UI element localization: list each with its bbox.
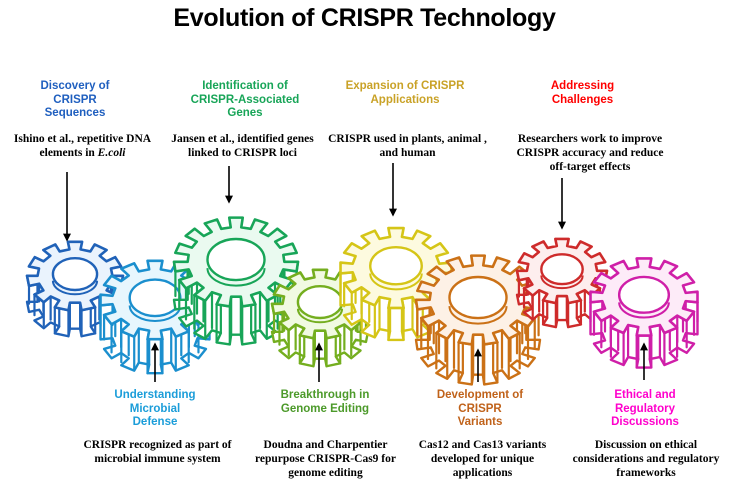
heading-line: CRISPR [405, 403, 555, 417]
heading-line: Challenges [505, 94, 660, 108]
description-identification-of-crispr-associated-genes: Jansen et al., identified geneslinked to… [155, 132, 330, 160]
description-understanding-microbial-defense: CRISPR recognized as part ofmicrobial im… [70, 438, 245, 466]
heading-line: Expansion of CRISPR [325, 80, 485, 94]
description-line: applications [400, 466, 565, 480]
heading-ethical-and-regulatory-discussions: Ethical andRegulatoryDiscussions [570, 389, 720, 430]
heading-line: Discussions [570, 416, 720, 430]
heading-line: Genome Editing [250, 403, 400, 417]
heading-understanding-microbial-defense: UnderstandingMicrobialDefense [80, 389, 230, 430]
description-line: Researchers work to improve [500, 132, 680, 146]
infographic-canvas: Evolution of CRISPR Technology Discovery… [0, 0, 729, 485]
description-line: CRISPR accuracy and reduce [500, 146, 680, 160]
description-expansion-of-crispr-applications: CRISPR used in plants, animal ,and human [320, 132, 495, 160]
heading-line: Applications [325, 94, 485, 108]
heading-line: Addressing [505, 80, 660, 94]
heading-line: Variants [405, 416, 555, 430]
description-line: developed for unique [400, 452, 565, 466]
description-discovery-of-crispr-sequences: Ishino et al., repetitive DNAelements in… [0, 132, 170, 160]
description-line: Ishino et al., repetitive DNA [0, 132, 170, 146]
heading-addressing-challenges: AddressingChallenges [505, 80, 660, 107]
heading-line: CRISPR [0, 94, 155, 108]
heading-line: Sequences [0, 107, 155, 121]
description-line: elements in E.coli [0, 146, 170, 160]
heading-discovery-of-crispr-sequences: Discovery ofCRISPRSequences [0, 80, 155, 121]
heading-line: Identification of [160, 80, 330, 94]
description-line: CRISPR recognized as part of [70, 438, 245, 452]
heading-line: Microbial [80, 403, 230, 417]
description-breakthrough-in-genome-editing: Doudna and Charpentierrepurpose CRISPR-C… [238, 438, 413, 480]
heading-breakthrough-in-genome-editing: Breakthrough inGenome Editing [250, 389, 400, 416]
heading-line: Breakthrough in [250, 389, 400, 403]
heading-identification-of-crispr-associated-genes: Identification ofCRISPR-AssociatedGenes [160, 80, 330, 121]
description-line: Doudna and Charpentier [238, 438, 413, 452]
description-line: off-target effects [500, 160, 680, 174]
heading-line: CRISPR-Associated [160, 94, 330, 108]
description-line: CRISPR used in plants, animal , [320, 132, 495, 146]
heading-line: Ethical and [570, 389, 720, 403]
description-line: Jansen et al., identified genes [155, 132, 330, 146]
description-ethical-and-regulatory-discussions: Discussion on ethicalconsiderations and … [560, 438, 729, 480]
description-line: Cas12 and Cas13 variants [400, 438, 565, 452]
description-line: repurpose CRISPR-Cas9 for [238, 452, 413, 466]
heading-line: Regulatory [570, 403, 720, 417]
heading-development-of-crispr-variants: Development ofCRISPRVariants [405, 389, 555, 430]
description-development-of-crispr-variants: Cas12 and Cas13 variantsdeveloped for un… [400, 438, 565, 480]
heading-line: Genes [160, 107, 330, 121]
description-line: frameworks [560, 466, 729, 480]
description-addressing-challenges: Researchers work to improveCRISPR accura… [500, 132, 680, 174]
heading-expansion-of-crispr-applications: Expansion of CRISPRApplications [325, 80, 485, 107]
description-line: genome editing [238, 466, 413, 480]
description-line: microbial immune system [70, 452, 245, 466]
heading-line: Discovery of [0, 80, 155, 94]
description-line: Discussion on ethical [560, 438, 729, 452]
description-line: considerations and regulatory [560, 452, 729, 466]
heading-line: Development of [405, 389, 555, 403]
description-line: linked to CRISPR loci [155, 146, 330, 160]
heading-line: Defense [80, 416, 230, 430]
heading-line: Understanding [80, 389, 230, 403]
description-line: and human [320, 146, 495, 160]
